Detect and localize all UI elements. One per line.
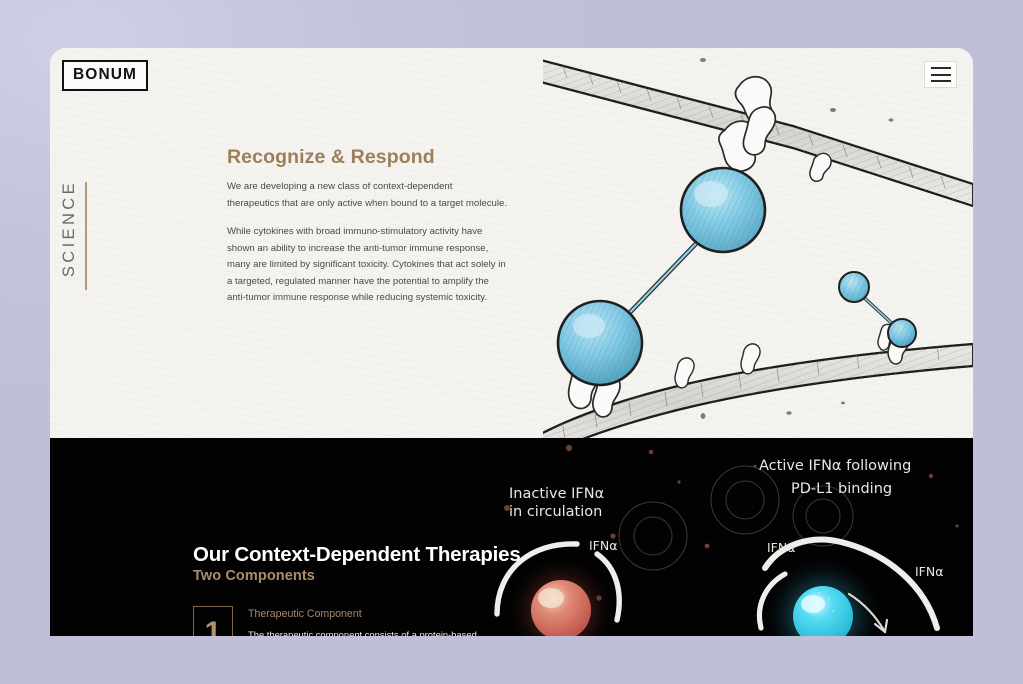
label-ifna-2: IFNα (767, 540, 795, 555)
cell-membrane-molecule-illustration (543, 48, 973, 438)
hero-paragraph-2: While cytokines with broad immuno-stimul… (227, 224, 507, 307)
hamburger-line-3 (931, 80, 951, 82)
label-inactive-line2: in circulation (509, 504, 602, 520)
section-label-text: SCIENCE (60, 180, 79, 277)
label-active-line2: PD-L1 binding (791, 481, 892, 497)
therapies-heading: Our Context-Dependent Therapies (193, 543, 523, 567)
hero-paragraph-1: We are developing a new class of context… (227, 179, 507, 212)
section-label-rule (85, 182, 87, 290)
component-item-1: 1 Therapeutic Component The therapeutic … (193, 606, 478, 636)
section-label-science: SCIENCE (60, 180, 87, 310)
logo-text: BONUM (73, 67, 137, 83)
label-ifna-1: IFNα (589, 538, 617, 553)
site-logo[interactable]: BONUM (62, 60, 148, 91)
label-active-line1: Active IFNα following (759, 458, 911, 474)
hero-copy: Recognize & Respond We are developing a … (227, 146, 507, 319)
hamburger-line-2 (931, 74, 951, 76)
hero-section: BONUM SCIENCE Recognize & Respond We are… (50, 48, 973, 438)
component-body: Therapeutic Component The therapeutic co… (248, 606, 478, 636)
label-inactive-line1: Inactive IFNα (509, 486, 604, 502)
component-title: Therapeutic Component (248, 608, 478, 620)
label-ifna-3: IFNα (915, 564, 943, 579)
ifna-activation-diagram: Inactive IFNα in circulation Active IFNα… (493, 438, 973, 636)
therapies-section: Inactive IFNα in circulation Active IFNα… (50, 438, 973, 636)
component-description: The therapeutic component consists of a … (248, 627, 478, 636)
component-number: 1 (205, 618, 222, 637)
page-title: Recognize & Respond (227, 146, 507, 169)
therapies-heading-block: Our Context-Dependent Therapies Two Comp… (193, 543, 523, 584)
component-number-badge: 1 (193, 606, 233, 636)
therapies-subheading: Two Components (193, 568, 523, 584)
browser-viewport: BONUM SCIENCE Recognize & Respond We are… (0, 0, 1023, 684)
page-content-card: BONUM SCIENCE Recognize & Respond We are… (50, 48, 973, 636)
hamburger-menu-icon[interactable] (924, 61, 957, 88)
hamburger-line-1 (931, 67, 951, 69)
